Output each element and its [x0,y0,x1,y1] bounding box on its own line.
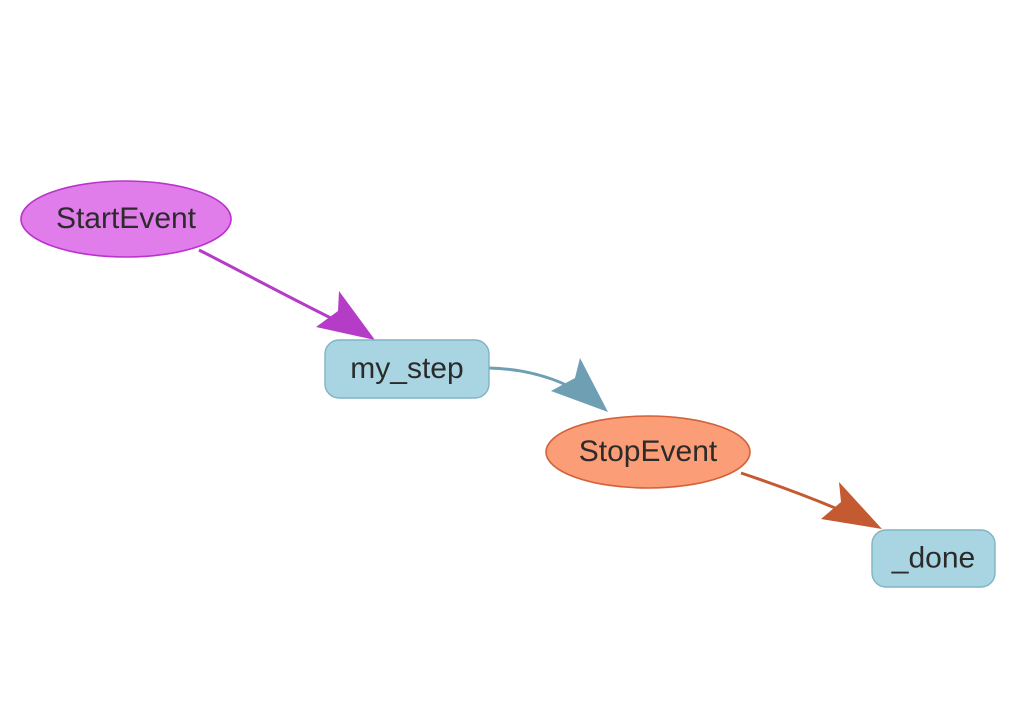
node-my-step[interactable]: my_step [325,340,489,398]
edge-mystep-to-stopevent-arrowhead-icon [551,358,608,412]
edge-layer [199,250,882,529]
node-stopevent-shape [546,416,750,488]
node-startevent-shape [21,181,231,257]
node-stopevent[interactable]: StopEvent [546,416,750,488]
node-done-shape [872,530,995,587]
edge-stopevent-to-done[interactable] [741,473,882,529]
edge-mystep-to-stopevent[interactable] [489,358,608,412]
edge-start-to-mystep[interactable] [199,250,375,340]
workflow-diagram-canvas: StartEvent my_step StopEvent _done [0,0,1010,716]
node-startevent[interactable]: StartEvent [21,181,231,257]
workflow-graph-svg: StartEvent my_step StopEvent _done [0,0,1010,716]
node-layer: StartEvent my_step StopEvent _done [21,181,995,587]
node-my-step-shape [325,340,489,398]
node-done[interactable]: _done [872,530,995,587]
